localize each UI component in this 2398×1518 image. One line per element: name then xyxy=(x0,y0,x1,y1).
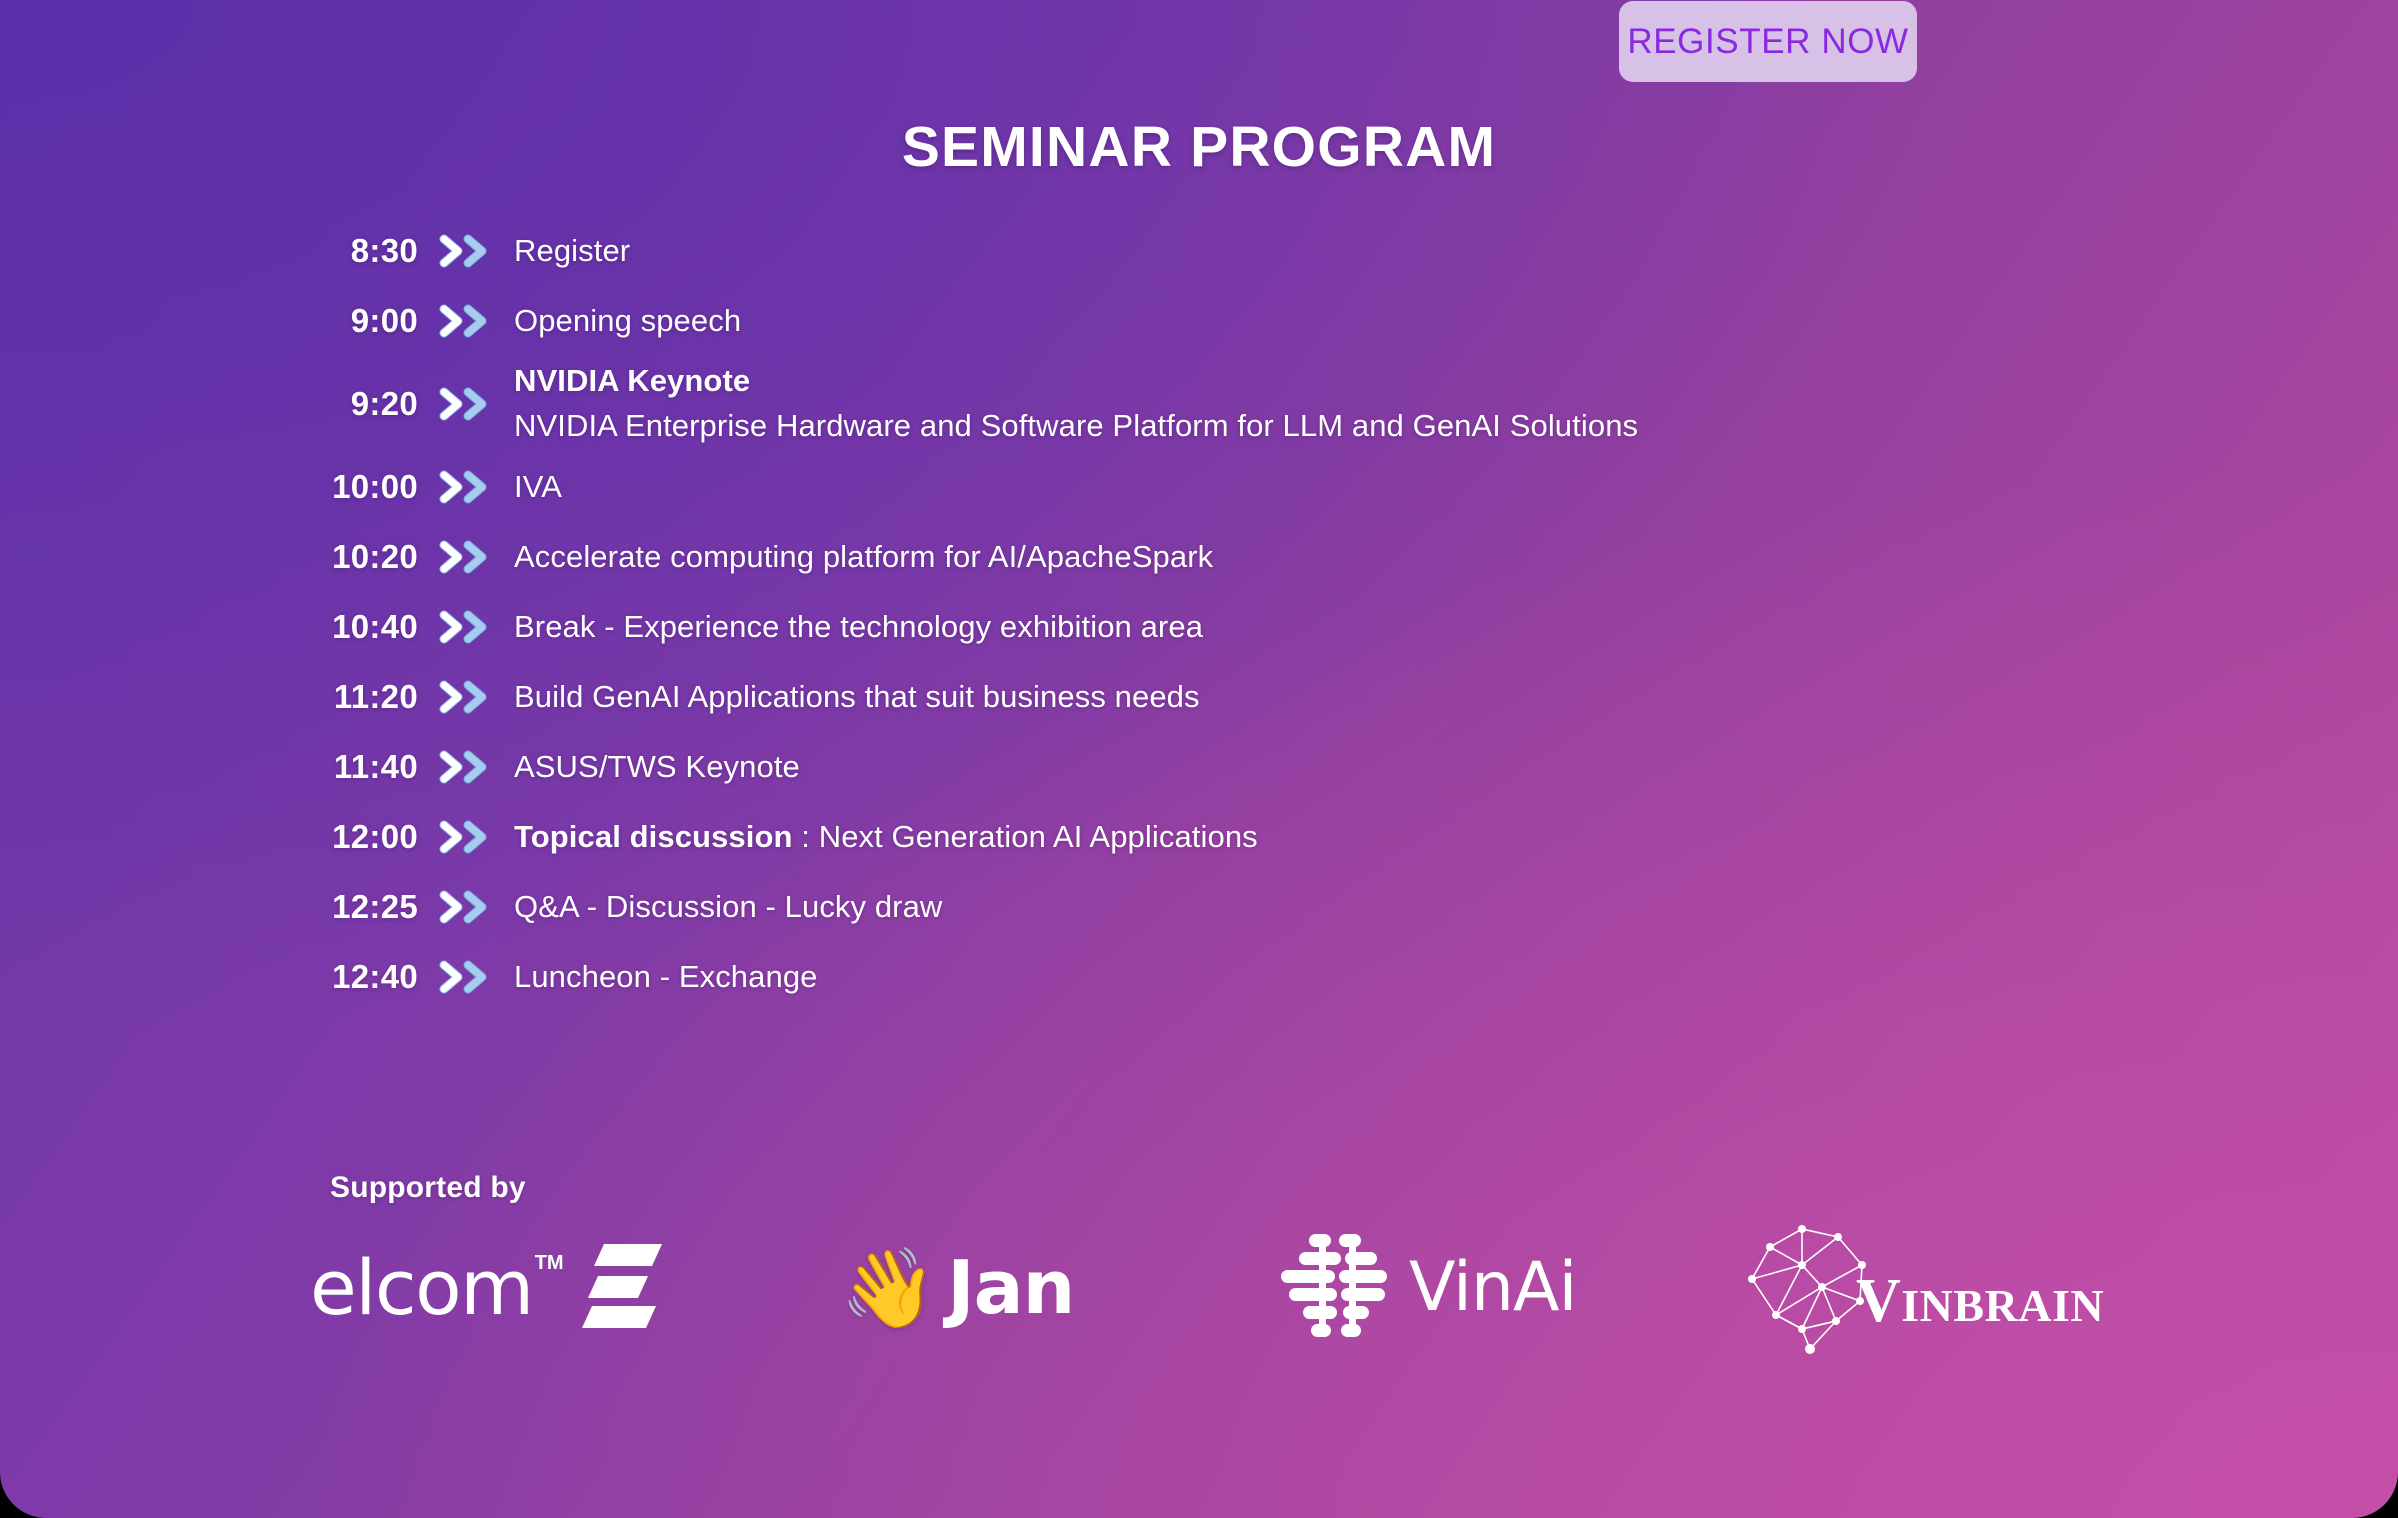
agenda-row: 11:20 Build GenAI Applications that suit… xyxy=(0,662,2398,732)
agenda-text: Luncheon - Exchange xyxy=(514,957,2398,998)
agenda-row: 10:00 IVA xyxy=(0,452,2398,522)
agenda-text: Q&A - Discussion - Lucky draw xyxy=(514,887,2398,928)
page-title: SEMINAR PROGRAM xyxy=(0,114,2398,180)
agenda-time: 9:20 xyxy=(250,385,418,423)
vinai-wordmark: VinAi xyxy=(1409,1254,1576,1322)
agenda-time: 8:30 xyxy=(250,232,418,270)
slide-canvas: REGISTER NOW SEMINAR PROGRAM 8:30 Regist… xyxy=(0,0,2398,1518)
double-chevron-icon xyxy=(418,815,514,859)
agenda-time: 10:40 xyxy=(250,608,418,646)
agenda-time: 12:00 xyxy=(250,818,418,856)
vinai-circuit-mark-icon xyxy=(1275,1230,1395,1347)
agenda-text-rest: : Next Generation AI Applications xyxy=(793,819,1258,854)
agenda-row: 12:40 Luncheon - Exchange xyxy=(0,942,2398,1012)
agenda-text-strong: Topical discussion xyxy=(514,819,793,854)
agenda-row: 11:40 ASUS/TWS Keynote xyxy=(0,732,2398,802)
agenda-time: 10:20 xyxy=(250,538,418,576)
register-now-button[interactable]: REGISTER NOW xyxy=(1619,1,1917,82)
double-chevron-icon xyxy=(418,605,514,649)
agenda-row: 10:20 Accelerate computing platform for … xyxy=(0,522,2398,592)
agenda-text: Topical discussion : Next Generation AI … xyxy=(514,817,2398,858)
jan-wordmark: Jan xyxy=(947,1251,1074,1325)
double-chevron-icon xyxy=(418,745,514,789)
vinbrain-wordmark-rest: INBRAIN xyxy=(1901,1280,2104,1331)
sponsor-logos: elcom TM 👋 Jan xyxy=(300,1218,2170,1358)
agenda-row: 9:00 Opening speech xyxy=(0,286,2398,356)
double-chevron-icon xyxy=(418,535,514,579)
agenda-time: 12:40 xyxy=(250,958,418,996)
agenda-time: 11:40 xyxy=(250,748,418,786)
agenda-time: 9:00 xyxy=(250,302,418,340)
agenda-list: 8:30 Register 9:00 Opening speech 9:20 N… xyxy=(0,216,2398,1012)
elcom-e-mark-icon xyxy=(576,1240,662,1337)
agenda-text: NVIDIA Keynote NVIDIA Enterprise Hardwar… xyxy=(514,361,2398,447)
agenda-text: Accelerate computing platform for AI/Apa… xyxy=(514,537,2398,578)
supported-by-label: Supported by xyxy=(330,1171,526,1205)
agenda-row: 10:40 Break - Experience the technology … xyxy=(0,592,2398,662)
double-chevron-icon xyxy=(418,382,514,426)
double-chevron-icon xyxy=(418,465,514,509)
agenda-text-subtitle: NVIDIA Enterprise Hardware and Software … xyxy=(514,406,2398,447)
agenda-text: ASUS/TWS Keynote xyxy=(514,747,2398,788)
sponsor-logo-jan: 👋 Jan xyxy=(840,1218,1074,1358)
agenda-text: IVA xyxy=(514,467,2398,508)
double-chevron-icon xyxy=(418,675,514,719)
sponsor-logo-elcom: elcom TM xyxy=(310,1218,662,1358)
double-chevron-icon xyxy=(418,885,514,929)
double-chevron-icon xyxy=(418,229,514,273)
agenda-text: Register xyxy=(514,231,2398,272)
waving-hand-icon: 👋 xyxy=(840,1249,937,1327)
agenda-time: 11:20 xyxy=(250,678,418,716)
elcom-wordmark: elcom xyxy=(310,1250,533,1326)
agenda-row: 8:30 Register xyxy=(0,216,2398,286)
agenda-row: 12:25 Q&A - Discussion - Lucky draw xyxy=(0,872,2398,942)
double-chevron-icon xyxy=(418,955,514,999)
double-chevron-icon xyxy=(418,299,514,343)
agenda-text: Opening speech xyxy=(514,301,2398,342)
agenda-time: 10:00 xyxy=(250,468,418,506)
sponsor-logo-vinbrain: VINBRAIN xyxy=(1740,1218,2104,1358)
agenda-text: Break - Experience the technology exhibi… xyxy=(514,607,2398,648)
agenda-text-title: NVIDIA Keynote xyxy=(514,361,2398,402)
elcom-trademark-icon: TM xyxy=(535,1252,564,1275)
agenda-row: 9:20 NVIDIA Keynote NVIDIA Enterprise Ha… xyxy=(0,356,2398,452)
agenda-row: 12:00 Topical discussion : Next Generati… xyxy=(0,802,2398,872)
sponsor-logo-vinai: VinAi xyxy=(1275,1218,1576,1358)
agenda-time: 12:25 xyxy=(250,888,418,926)
vinbrain-wordmark: VINBRAIN xyxy=(1856,1270,2104,1332)
agenda-text: Build GenAI Applications that suit busin… xyxy=(514,677,2398,718)
vinbrain-wordmark-cap: V xyxy=(1856,1267,1901,1335)
